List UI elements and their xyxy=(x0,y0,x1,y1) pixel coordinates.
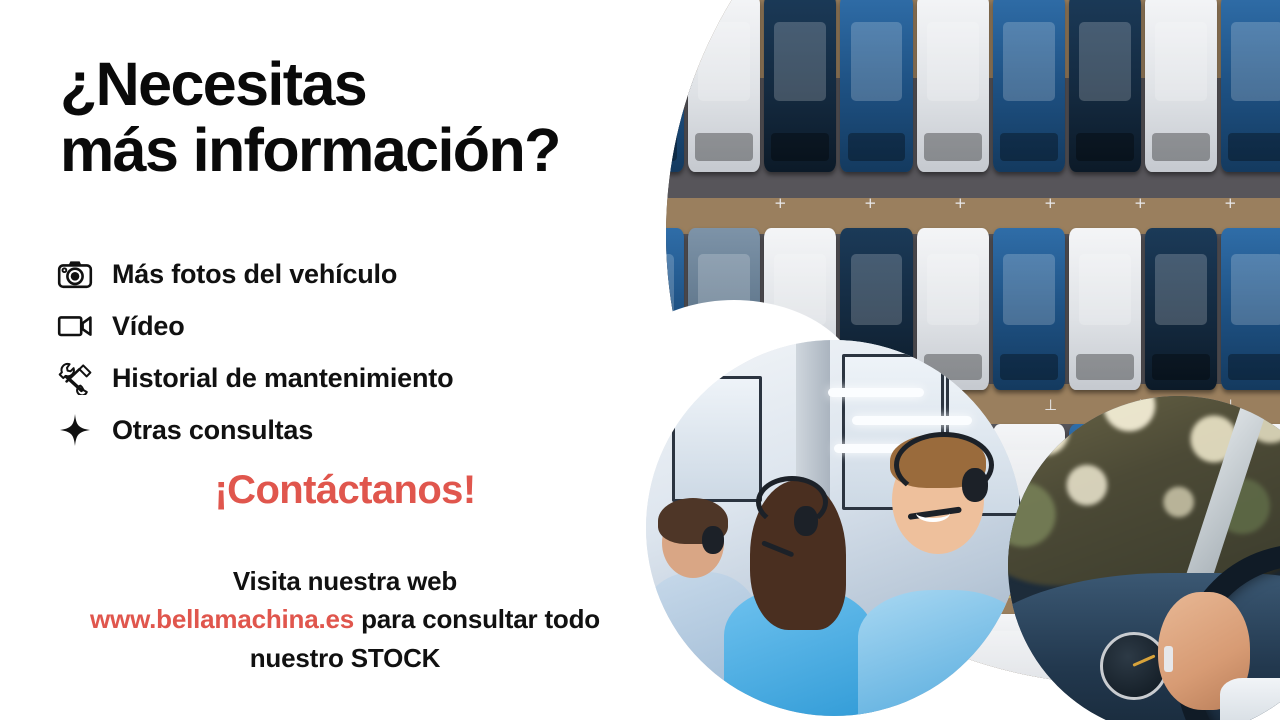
list-item-label: Otras consultas xyxy=(112,415,313,446)
closing-line-2: www.bellamachina.es para consultar todo xyxy=(0,600,690,638)
list-item: Más fotos del vehículo xyxy=(52,248,453,300)
car-lot-scene: + + + + + + + + + ⊥ xyxy=(666,0,1280,684)
car-row xyxy=(666,0,1280,172)
feature-list: Más fotos del vehículo Vídeo xyxy=(52,248,453,456)
website-link[interactable]: www.bellamachina.es xyxy=(90,604,354,634)
tools-icon xyxy=(52,358,98,398)
headline-line-1: ¿Necesitas xyxy=(60,52,680,118)
list-item-label: Vídeo xyxy=(112,311,185,342)
steering-wheel xyxy=(1176,544,1280,720)
driving-scene xyxy=(1008,396,1280,720)
car-row xyxy=(666,228,1280,390)
lot-asphalt-strip xyxy=(666,78,1280,198)
wedding-ring xyxy=(1164,646,1173,672)
a-pillar xyxy=(1179,396,1275,604)
sparkle-icon xyxy=(52,410,98,450)
windshield xyxy=(1008,396,1280,586)
banner-content: ¿Necesitas más información? Más fotos de… xyxy=(0,0,690,720)
call-center-scene xyxy=(646,340,1022,716)
headline-line-2: más información? xyxy=(60,118,680,184)
dashboard xyxy=(1008,573,1280,720)
driver-hand xyxy=(1158,592,1250,710)
speedometer xyxy=(1100,632,1168,700)
contact-cta[interactable]: ¡Contáctanos! xyxy=(0,468,690,513)
promo-banner: + + + + + + + + + ⊥ xyxy=(0,0,1280,720)
list-item: Historial de mantenimiento xyxy=(52,352,453,404)
lot-ground-strip xyxy=(666,0,1280,78)
car-row xyxy=(666,424,1280,586)
list-item: Vídeo xyxy=(52,300,453,352)
closing-text: Visita nuestra web www.bellamachina.es p… xyxy=(0,562,690,677)
car-row xyxy=(756,614,1260,684)
list-item: Otras consultas xyxy=(52,404,453,456)
video-icon xyxy=(52,306,98,346)
lot-asphalt-strip xyxy=(666,424,1280,570)
closing-line-2-rest: para consultar todo xyxy=(354,604,600,634)
lot-asphalt-strip xyxy=(666,234,1280,384)
driving-photo xyxy=(1008,396,1280,720)
lot-ground-strip xyxy=(666,570,1280,684)
camera-icon xyxy=(52,254,98,294)
list-item-label: Más fotos del vehículo xyxy=(112,259,397,290)
closing-line-1: Visita nuestra web xyxy=(0,562,690,600)
closing-line-3: nuestro STOCK xyxy=(0,639,690,677)
shirt-sleeve xyxy=(1220,678,1280,720)
list-item-label: Historial de mantenimiento xyxy=(112,363,453,394)
lot-ground-strip xyxy=(666,198,1280,234)
aerial-car-lot-photo: + + + + + + + + + ⊥ xyxy=(666,0,1280,684)
page-title: ¿Necesitas más información? xyxy=(60,52,680,184)
lot-ground-strip xyxy=(666,384,1280,424)
call-center-photo xyxy=(646,340,1022,716)
